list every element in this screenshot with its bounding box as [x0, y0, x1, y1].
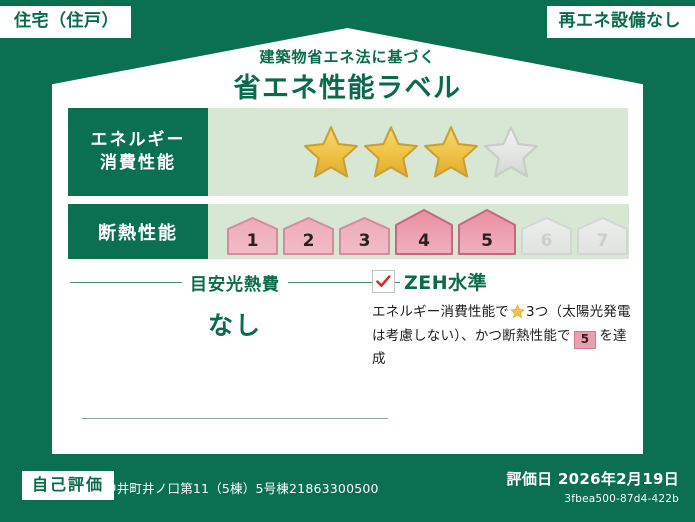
property-address: 中井町井ノ口第11（5棟）5号棟21863300500 — [104, 478, 379, 497]
star-empty-icon — [482, 124, 540, 180]
insulation-level-badge-on: 3 — [338, 216, 391, 256]
utility-cost-heading-text: 目安光熱費 — [190, 270, 280, 295]
insulation-level-number: 6 — [520, 231, 573, 251]
label-subtitle: 建築物省エネ法に基づく — [52, 46, 643, 67]
self-evaluation-badge: 自己評価 — [22, 471, 114, 500]
energy-label-line2: 消費性能 — [100, 152, 176, 175]
insulation-performance-row: 断熱性能 1234567 — [68, 204, 628, 259]
inline-insulation-badge: 5 — [574, 331, 597, 349]
insulation-level-number: 2 — [282, 231, 335, 251]
zeh-block: ZEH水準 エネルギー消費性能で3つ（太陽光発電は考慮しない）、かつ断熱性能で5… — [372, 268, 634, 370]
insulation-level-badge-off: 7 — [576, 216, 629, 256]
insulation-level-badge-on: 4 — [394, 208, 454, 256]
insulation-level-number: 1 — [226, 231, 279, 251]
utility-cost-heading: 目安光熱費 — [70, 270, 400, 295]
renewable-energy-tag: 再エネ設備なし — [547, 6, 695, 38]
insulation-level-scale: 1234567 — [226, 208, 629, 256]
insulation-level-number: 4 — [394, 231, 454, 251]
insulation-level-number: 5 — [457, 231, 517, 251]
energy-performance-label: 住宅（住戸） 再エネ設備なし 建築物省エネ法に基づく 省エネ性能ラベル エネルギ… — [0, 0, 695, 522]
energy-label-line1: エネルギー — [91, 129, 186, 152]
insulation-label: 断熱性能 — [98, 219, 178, 245]
heading-rule-left — [70, 282, 182, 283]
insulation-level-number: 3 — [338, 231, 391, 251]
insulation-level-badge-on: 5 — [457, 208, 517, 256]
inline-star-icon — [510, 304, 525, 326]
star-filled-icon — [362, 124, 420, 180]
star-filled-icon — [302, 124, 360, 180]
zeh-desc-part1: エネルギー消費性能で — [372, 304, 509, 320]
evaluation-id: 3fbea500-87d4-422b — [564, 493, 679, 505]
insulation-level-badge-on: 1 — [226, 216, 279, 256]
insulation-level-badge-on: 2 — [282, 216, 335, 256]
insulation-level-number: 7 — [576, 231, 629, 251]
page-title: 省エネ性能ラベル — [52, 66, 643, 105]
insulation-performance-value: 1234567 — [208, 204, 629, 259]
insulation-performance-label-block: 断熱性能 — [68, 204, 208, 259]
building-type-tag: 住宅（住戸） — [0, 6, 131, 38]
evaluation-date: 評価日 2026年2月19日 — [507, 468, 679, 489]
utility-cost-divider — [82, 418, 388, 419]
utility-cost-value: なし — [70, 306, 400, 342]
star-rating — [302, 124, 540, 180]
label-card: 建築物省エネ法に基づく 省エネ性能ラベル エネルギー 消費性能 断熱性能 123… — [52, 28, 643, 454]
energy-performance-row: エネルギー 消費性能 — [68, 108, 628, 196]
zeh-description: エネルギー消費性能で3つ（太陽光発電は考慮しない）、かつ断熱性能で5を達成 — [372, 302, 634, 370]
energy-performance-value — [208, 108, 628, 196]
label-footer: 自己評価 中井町井ノ口第11（5棟）5号棟21863300500 評価日 202… — [0, 458, 695, 522]
energy-performance-label-block: エネルギー 消費性能 — [68, 108, 208, 196]
star-filled-icon — [422, 124, 480, 180]
zeh-checkbox[interactable] — [372, 270, 395, 293]
zeh-heading: ZEH水準 — [372, 268, 634, 295]
insulation-level-badge-off: 6 — [520, 216, 573, 256]
zeh-title: ZEH水準 — [404, 268, 487, 295]
